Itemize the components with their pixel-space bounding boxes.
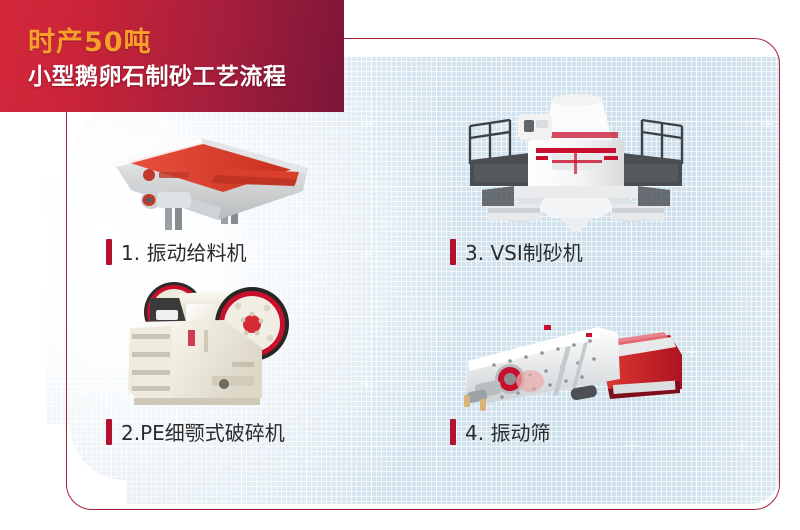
label-accent-bar: [106, 239, 112, 265]
item-label-3: 3. VSI制砂机: [450, 237, 583, 266]
label-accent-bar: [450, 419, 456, 445]
item-label-1: 1. 振动给料机: [106, 237, 246, 266]
poster-canvas: 1. 振动给料机 2.PE细颚式破碎机 3. VSI制砂机 4. 振动筛 时产5…: [0, 0, 800, 530]
banner-subheadline: 小型鹅卵石制砂工艺流程: [28, 57, 287, 91]
machine-image-vsi-sand-maker: [452, 86, 700, 234]
machine-image-jaw-crusher: [112, 272, 317, 407]
machine-image-vibrating-screen: [458, 303, 683, 411]
item-label-4: 4. 振动筛: [450, 417, 550, 446]
label-accent-bar: [450, 239, 456, 265]
item-label-text: 1. 振动给料机: [121, 237, 246, 266]
item-label-2: 2.PE细颚式破碎机: [106, 417, 285, 446]
title-banner: 时产50吨 小型鹅卵石制砂工艺流程: [0, 0, 344, 112]
machine-image-vibrating-feeder: [103, 128, 318, 233]
item-label-text: 4. 振动筛: [465, 417, 550, 446]
item-label-text: 2.PE细颚式破碎机: [121, 417, 285, 446]
banner-headline: 时产50吨: [28, 20, 152, 59]
item-label-text: 3. VSI制砂机: [465, 237, 583, 266]
label-accent-bar: [106, 419, 112, 445]
